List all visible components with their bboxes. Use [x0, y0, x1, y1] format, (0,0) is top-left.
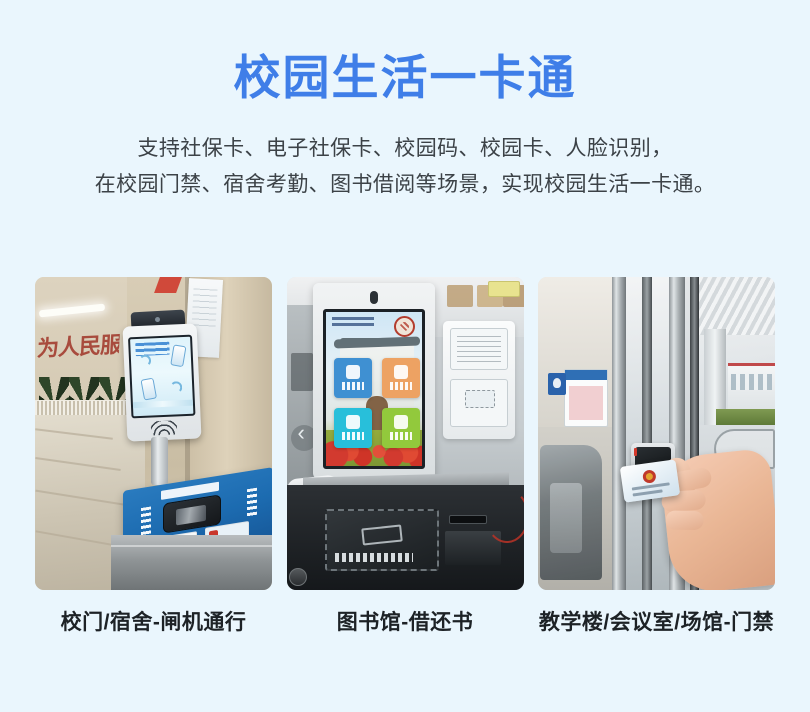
red-cable — [485, 489, 524, 543]
deck-knob — [289, 568, 307, 586]
book-icon — [346, 365, 360, 379]
red-banner — [154, 277, 182, 293]
rfid-book-zone — [325, 509, 439, 571]
card-caption: 教学楼/会议室/场馆-门禁 — [538, 606, 775, 636]
tile-label — [342, 382, 364, 390]
school-seal-icon — [394, 316, 415, 337]
tablet-screen — [128, 335, 195, 419]
kiosk-tile-borrow[interactable] — [334, 358, 372, 398]
card-slot-icon — [465, 390, 495, 408]
library-kiosk-photo — [287, 277, 524, 590]
gate-turnstile-photo: 为人民服务 — [35, 277, 272, 590]
subtitle-line-1: 支持社保卡、电子社保卡、校园码、校园卡、人脸识别， — [48, 131, 762, 167]
page-title: 校园生活一卡通 — [0, 52, 810, 105]
instruction-text-box — [450, 328, 508, 370]
kiosk-touchscreen — [323, 309, 425, 469]
kiosk-tile-renew[interactable] — [382, 408, 420, 448]
instruction-panel — [443, 321, 515, 439]
nfc-reader-icon — [151, 420, 178, 435]
tile-label — [390, 382, 412, 390]
lobby-railing — [35, 400, 127, 416]
card-swipe-box — [450, 379, 508, 427]
scenario-card-list: 为人民服务 — [35, 277, 775, 636]
scenario-card-library: 图书馆-借还书 — [287, 277, 524, 636]
nfc-wave-icon — [139, 354, 152, 367]
instruction-lines — [457, 336, 501, 364]
poster-header — [565, 370, 607, 380]
exterior-ceiling — [699, 277, 775, 335]
background-sign — [488, 281, 520, 297]
screen-title-text — [135, 342, 170, 356]
screen-band — [133, 400, 193, 409]
tile-label — [342, 432, 364, 440]
kiosk-tile-return[interactable] — [382, 358, 420, 398]
nfc-wave-icon — [170, 381, 183, 394]
shelf-slat — [447, 285, 473, 307]
social-security-card — [620, 459, 680, 502]
door-frame — [642, 277, 652, 590]
kiosk-camera-icon — [370, 291, 378, 304]
poster-body — [569, 386, 603, 420]
renew-icon — [394, 415, 408, 429]
page-subtitle: 支持社保卡、电子社保卡、校园码、校园卡、人脸识别， 在校园门禁、宿舍考勤、图书借… — [0, 131, 810, 203]
panel-side-text-right — [247, 488, 257, 518]
door-glass — [626, 277, 642, 590]
door-access-photo — [538, 277, 775, 590]
self-service-kiosk — [313, 283, 435, 479]
status-led-icon — [634, 448, 637, 456]
book-placement-icon — [361, 525, 403, 546]
subtitle-line-2: 在校园门禁、宿舍考勤、图书借阅等场景，实现校园生活一卡通。 — [48, 167, 762, 203]
finger — [666, 510, 704, 530]
direction-sign — [548, 373, 566, 395]
interior-turnstile — [540, 445, 602, 580]
door-glass — [652, 277, 669, 590]
tablet-mount-post — [151, 437, 168, 485]
receipt-slot — [449, 515, 487, 524]
exterior-hedge — [716, 409, 775, 425]
card-caption: 图书馆-借还书 — [287, 606, 524, 636]
tile-label — [390, 432, 412, 440]
exterior-building — [728, 363, 775, 409]
national-emblem-icon — [642, 469, 657, 484]
phone-illustration-icon — [170, 344, 186, 367]
door-frame — [612, 277, 626, 590]
face-recognition-tablet — [123, 323, 202, 441]
rfid-zone-label — [335, 553, 413, 562]
panel-side-text-left — [141, 506, 151, 536]
wall-calligraphy: 为人民服务 — [36, 327, 120, 371]
kiosk-tile-search[interactable] — [334, 408, 372, 448]
screen-header-text — [332, 317, 374, 328]
search-icon — [346, 415, 360, 429]
promo-page: 校园生活一卡通 支持社保卡、电子社保卡、校园码、校园卡、人脸识别， 在校园门禁、… — [0, 0, 810, 712]
card-caption: 校门/宿舍-闸机通行 — [35, 606, 272, 636]
phone-illustration-icon — [140, 378, 157, 401]
wall-poster — [564, 369, 608, 427]
return-icon — [394, 365, 408, 379]
scenario-card-gate: 为人民服务 — [35, 277, 272, 636]
turnstile-body — [111, 535, 272, 590]
card-text-line — [632, 482, 670, 490]
scenario-card-door: 教学楼/会议室/场馆-门禁 — [538, 277, 775, 636]
card-text-line — [633, 489, 663, 496]
